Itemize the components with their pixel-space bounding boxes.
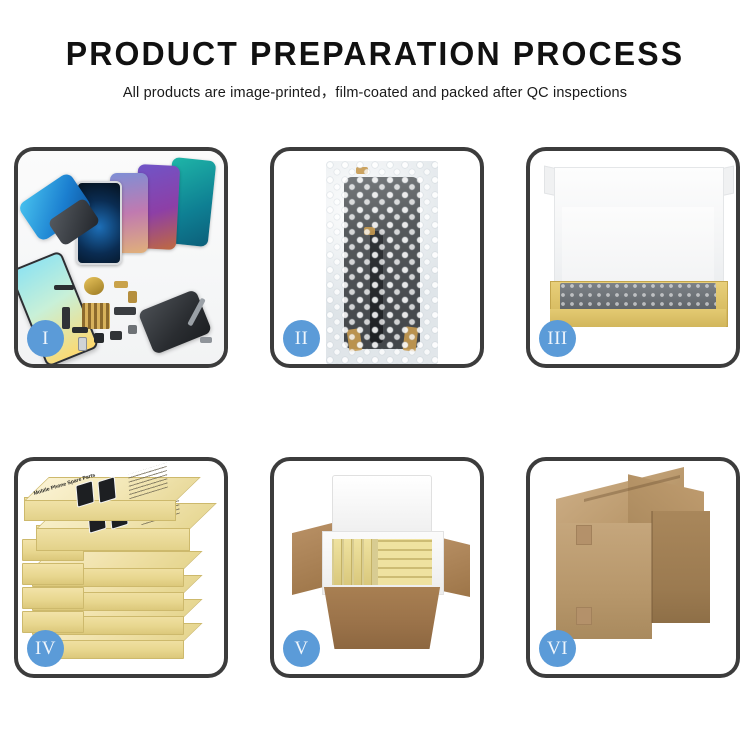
yellow-boxes-inside [332, 539, 432, 585]
step-card-2: II [270, 147, 484, 368]
step-badge-2: II [283, 320, 320, 357]
stacked-box [22, 563, 84, 585]
page-subtitle: All products are image-printed，film-coat… [0, 81, 750, 102]
step-badge-1: I [27, 320, 64, 357]
carton-tape-upper [576, 525, 592, 545]
step-card-3: III [526, 147, 740, 368]
yellow-boxes-flat-group [378, 539, 432, 585]
step-card-6: VI [526, 457, 740, 678]
yellow-box-edge [344, 539, 352, 585]
bubble-texture [326, 161, 438, 364]
spare-part-icon [110, 331, 122, 340]
step-card-5: V [270, 457, 484, 678]
yellow-box-edge [334, 539, 342, 585]
spare-part-icon [78, 337, 87, 351]
carton-seam [651, 511, 653, 623]
foam-sheet-icon [562, 207, 714, 281]
spare-part-icon [114, 307, 136, 315]
spare-part-icon [54, 285, 74, 290]
step-badge-6: VI [539, 630, 576, 667]
stacked-box [22, 587, 84, 609]
spare-part-icon [128, 291, 137, 303]
spare-part-icon [94, 333, 104, 343]
page-title: PRODUCT PREPARATION PROCESS [11, 36, 739, 72]
spare-part-icon [62, 307, 70, 329]
foam-lid-icon [332, 475, 432, 535]
carton-front-face [556, 523, 652, 639]
spare-part-icon [128, 325, 137, 334]
step-badge-3: III [539, 320, 576, 357]
bubble-wrapped-contents-icon [560, 283, 716, 311]
bubble-wrap-bag-icon [326, 161, 438, 364]
yellow-box-edge [364, 539, 372, 585]
product-preparation-infographic: PRODUCT PREPARATION PROCESS All products… [0, 0, 750, 750]
step-badge-4: IV [27, 630, 64, 667]
carton-tape-lower [576, 607, 592, 625]
spare-part-icon [84, 277, 104, 295]
step-card-1: I [14, 147, 228, 368]
stacked-box [22, 611, 84, 633]
spare-part-icon [72, 327, 88, 333]
carton-side-face [652, 511, 710, 623]
carton-body-icon [316, 587, 448, 649]
spare-part-icon [114, 281, 128, 288]
spare-part-icon [200, 337, 212, 343]
yellow-box-front-icon [550, 309, 726, 327]
yellow-box-edge [354, 539, 362, 585]
step-badge-5: V [283, 630, 320, 667]
process-grid: I II [14, 147, 736, 678]
header: PRODUCT PREPARATION PROCESS All products… [0, 36, 750, 102]
ic-chip-grid-icon [82, 303, 110, 329]
step-card-4: Mobile Phone Spare Parts Mobile Phone Sp… [14, 457, 228, 678]
